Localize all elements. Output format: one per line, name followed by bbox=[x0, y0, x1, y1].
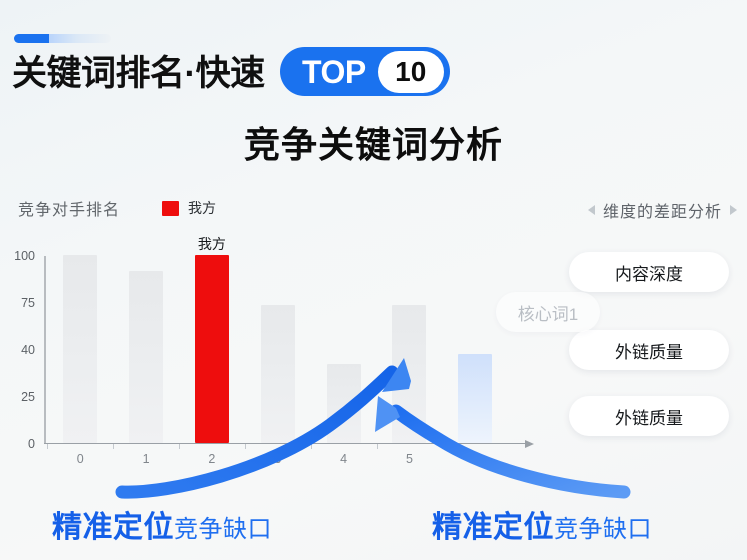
y-axis-tick-label: 25 bbox=[21, 390, 35, 404]
bar bbox=[458, 354, 492, 442]
right-panel-header: 维度的差距分析 bbox=[588, 198, 737, 222]
headline-row: 关键词排名·快速 bbox=[12, 47, 265, 99]
legend-swatch-icon bbox=[162, 201, 179, 216]
right-panel-title: 维度的差距分析 bbox=[603, 198, 722, 222]
bar bbox=[129, 271, 163, 442]
chart-header: 竞争对手排名 我方 bbox=[18, 196, 216, 220]
x-axis-tick-mark bbox=[47, 444, 48, 449]
x-axis-tick-mark bbox=[245, 444, 246, 449]
top-badge-number: 10 bbox=[378, 51, 444, 93]
bar bbox=[63, 255, 97, 443]
x-axis-tick-label: 5 bbox=[472, 452, 479, 466]
top-rank-badge: TOP 10 bbox=[280, 47, 450, 96]
x-axis-tick-mark bbox=[179, 444, 180, 449]
x-axis-tick-mark bbox=[113, 444, 114, 449]
chart-legend: 我方 bbox=[162, 198, 216, 218]
dimension-pill[interactable]: 内容深度 bbox=[569, 252, 729, 292]
y-axis-tick-label: 75 bbox=[21, 296, 35, 310]
x-axis-tick-mark bbox=[311, 444, 312, 449]
caption-left-strong: 精准定位 bbox=[52, 502, 174, 546]
x-axis-tick-label: 2 bbox=[208, 452, 215, 466]
x-axis-tick-label: 5 bbox=[406, 452, 413, 466]
caption-right: 精准定位 竞争缺口 bbox=[432, 502, 652, 546]
x-axis-tick-label: 1 bbox=[143, 452, 150, 466]
triangle-right-icon bbox=[730, 205, 737, 215]
accent-bar-track bbox=[49, 34, 111, 43]
y-axis-tick-label: 100 bbox=[14, 249, 35, 263]
chart-axis-title: 竞争对手排名 bbox=[18, 196, 120, 220]
bar bbox=[261, 305, 295, 442]
bar bbox=[195, 255, 229, 443]
x-axis-tick-label: 0 bbox=[77, 452, 84, 466]
x-axis-line bbox=[44, 443, 528, 445]
page-title: 竞争关键词分析 bbox=[0, 116, 747, 168]
triangle-left-icon bbox=[588, 205, 595, 215]
caption-left-weak: 竞争缺口 bbox=[174, 509, 272, 544]
legend-label: 我方 bbox=[188, 198, 216, 218]
y-axis-tick-label: 40 bbox=[21, 343, 35, 357]
bar bbox=[392, 305, 426, 442]
y-axis-tick-label: 0 bbox=[28, 437, 35, 451]
bar-chart: 1007540250 0123455 我方 bbox=[44, 256, 534, 444]
headline-text: 关键词排名·快速 bbox=[12, 56, 265, 91]
caption-left: 精准定位 竞争缺口 bbox=[52, 502, 272, 546]
x-axis-tick-mark bbox=[442, 444, 443, 449]
top-badge-word: TOP bbox=[302, 56, 378, 88]
caption-right-strong: 精准定位 bbox=[432, 502, 554, 546]
y-axis-line bbox=[44, 256, 46, 444]
bar bbox=[327, 364, 361, 443]
bar-value-label: 我方 bbox=[198, 234, 226, 254]
accent-bar-filled bbox=[14, 34, 49, 43]
x-axis-tick-mark bbox=[377, 444, 378, 449]
x-axis-tick-label: 4 bbox=[340, 452, 347, 466]
x-axis-tick-label: 3 bbox=[274, 452, 281, 466]
dimension-pill[interactable]: 外链质量 bbox=[569, 396, 729, 436]
caption-right-weak: 竞争缺口 bbox=[554, 509, 652, 544]
dimension-pill[interactable]: 外链质量 bbox=[569, 330, 729, 370]
progress-accent-bar bbox=[14, 34, 111, 43]
x-axis-arrow-icon bbox=[525, 440, 534, 448]
